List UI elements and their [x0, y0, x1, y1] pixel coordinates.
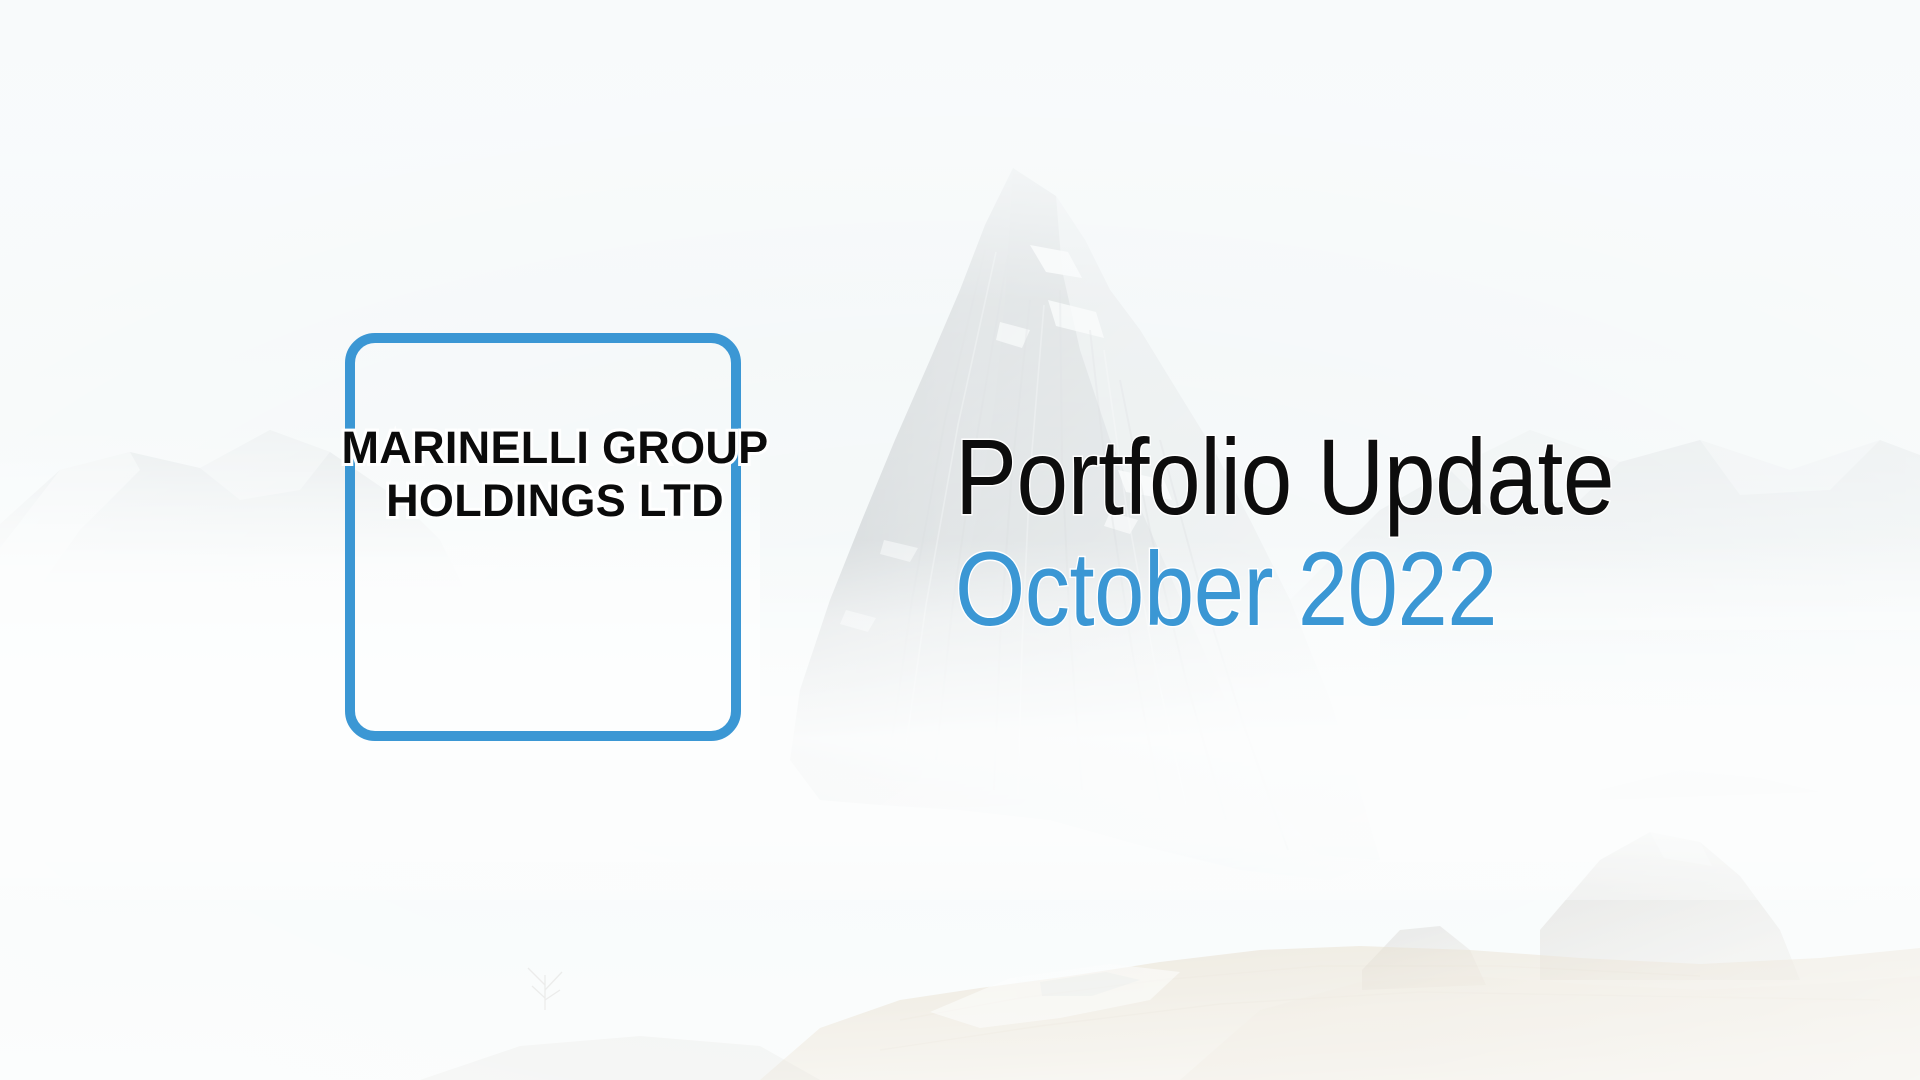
foreground-tundra — [760, 946, 1920, 1080]
mid-rock-right — [1540, 832, 1800, 980]
slide-title: Portfolio Update — [955, 420, 1614, 533]
logo-line-1: MARINELLI GROUP — [310, 425, 800, 470]
logo-frame-border — [345, 333, 741, 741]
mid-rock-small — [1362, 926, 1486, 990]
title-slide: MARINELLI GROUP HOLDINGS LTD Portfolio U… — [0, 0, 1920, 1080]
bottom-left-rock — [420, 1036, 820, 1080]
shrub-silhouette — [528, 968, 562, 1010]
snow-field — [930, 964, 1180, 1028]
headline-block: Portfolio Update October 2022 — [955, 420, 1721, 646]
fjord-water — [1380, 630, 1920, 800]
logo-line-2: HOLDINGS LTD — [310, 478, 800, 523]
slide-subtitle: October 2022 — [955, 535, 1614, 645]
fog-top-band — [0, 0, 1920, 300]
company-logo: MARINELLI GROUP HOLDINGS LTD — [310, 325, 800, 755]
logo-wordmark: MARINELLI GROUP HOLDINGS LTD — [310, 425, 800, 523]
distant-island — [1600, 770, 1820, 800]
